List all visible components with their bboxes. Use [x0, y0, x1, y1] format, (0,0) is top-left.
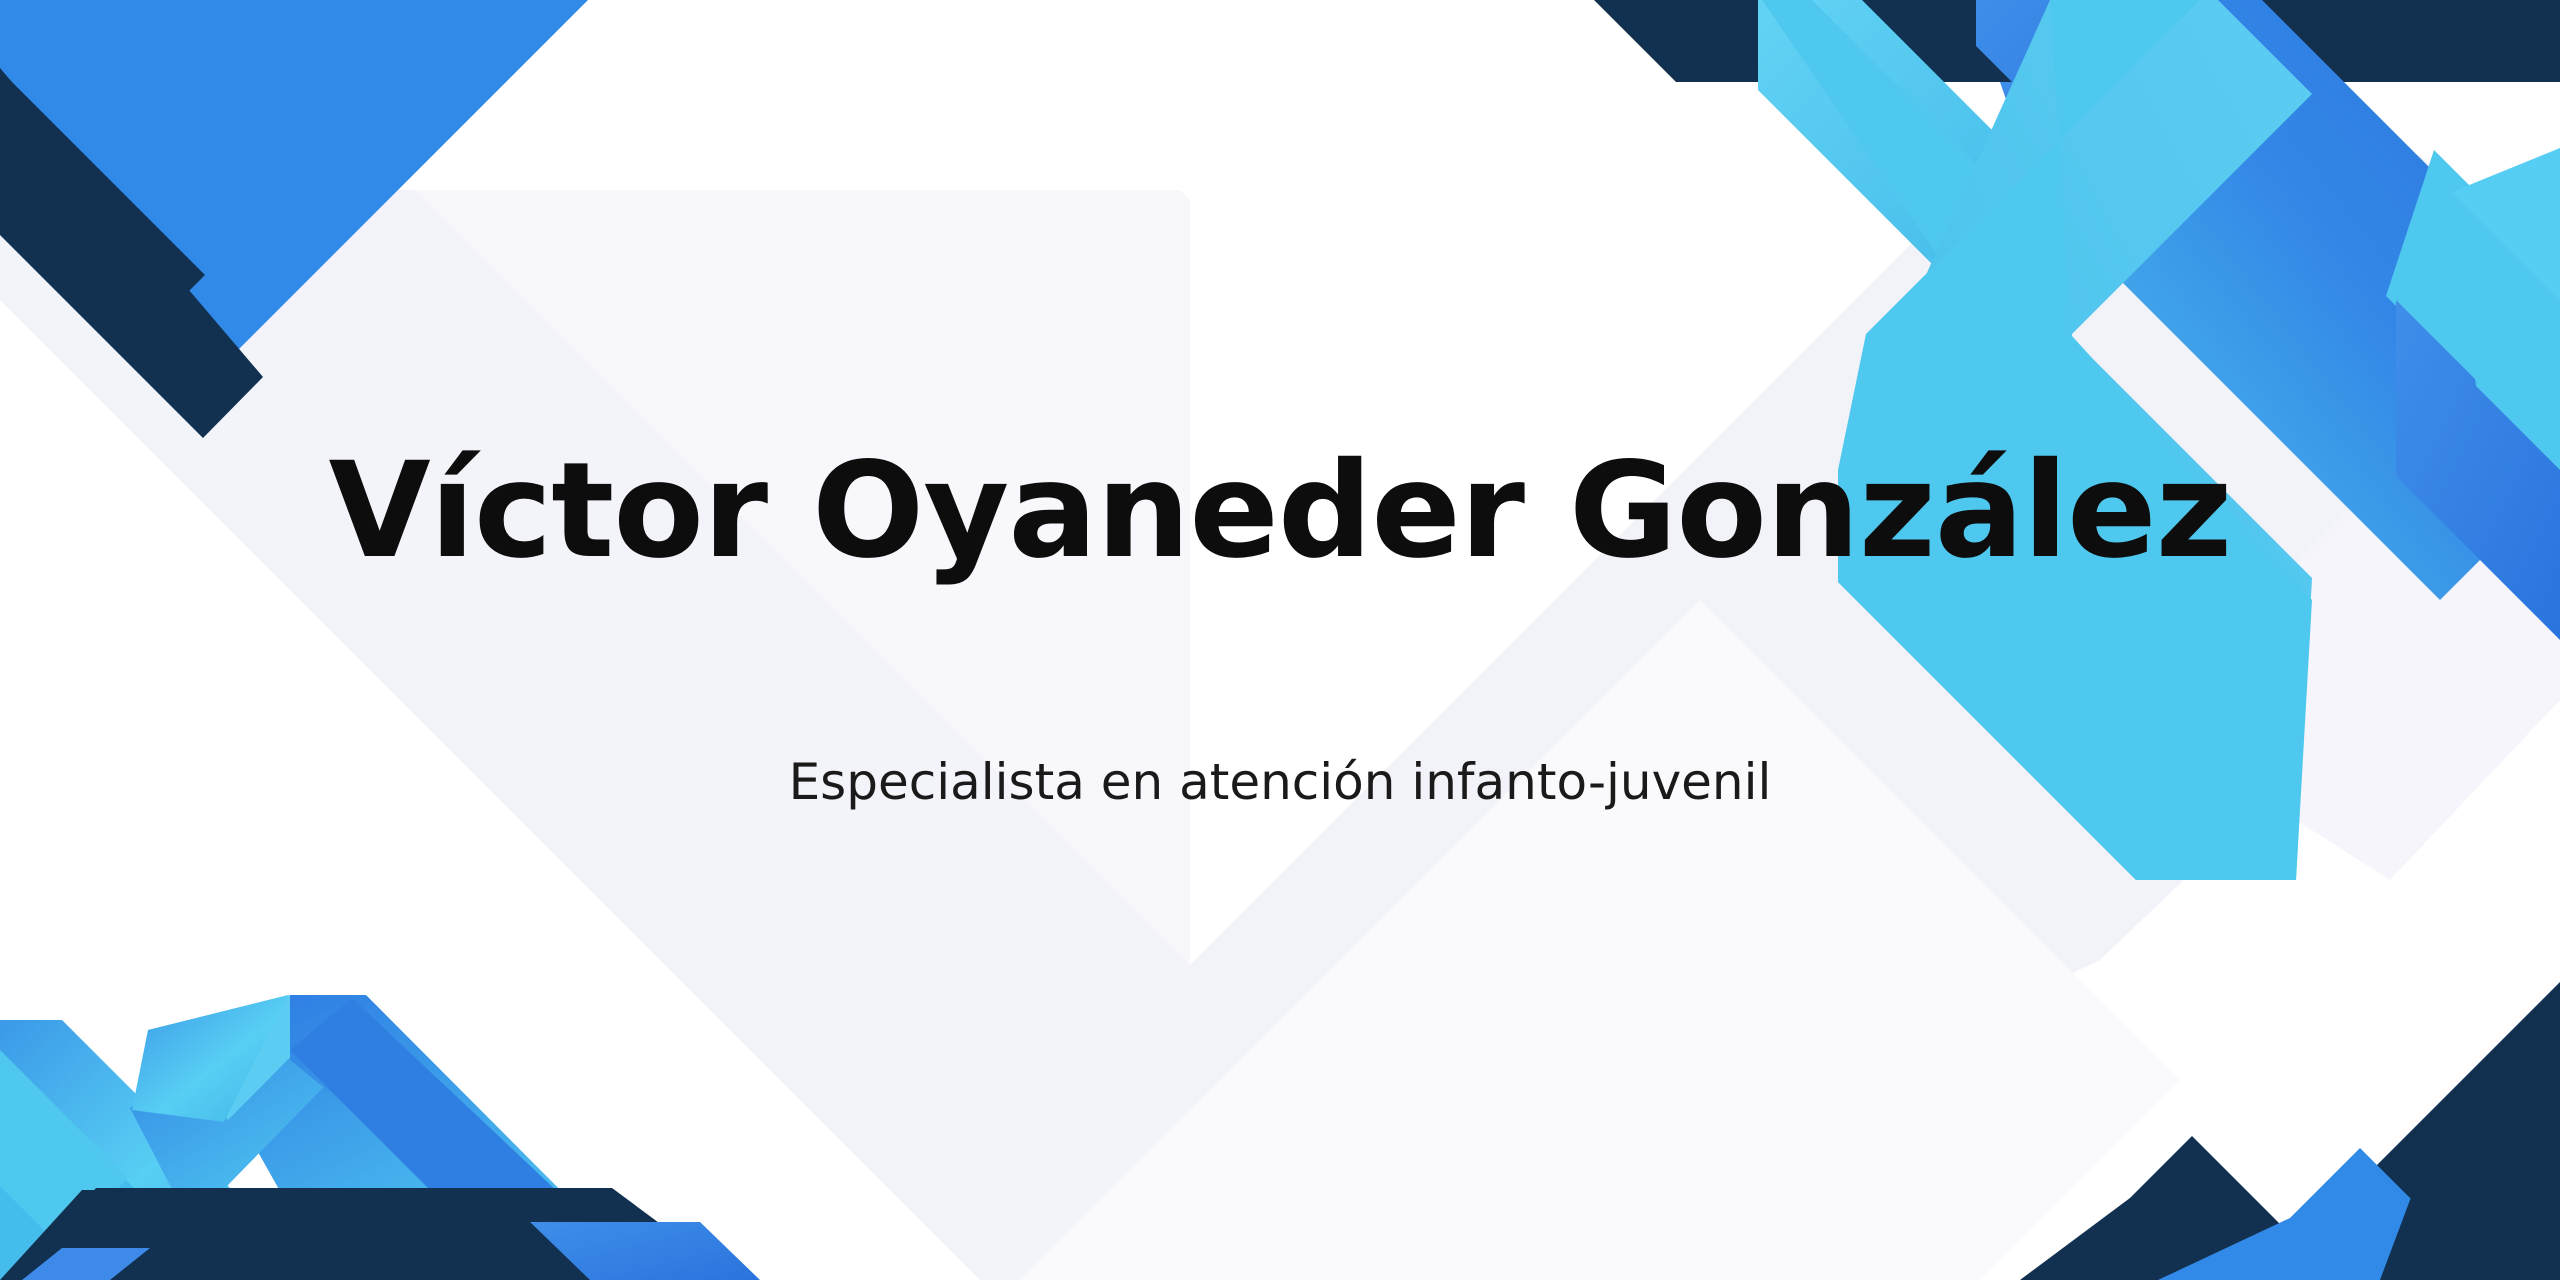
- slide-subtitle: Especialista en atención infanto-juvenil: [0, 752, 2560, 812]
- title-slide: Víctor Oyaneder González Especialista en…: [0, 0, 2560, 1280]
- slide-title: Víctor Oyaneder González: [0, 440, 2560, 583]
- slide-text-layer: Víctor Oyaneder González Especialista en…: [0, 0, 2560, 1280]
